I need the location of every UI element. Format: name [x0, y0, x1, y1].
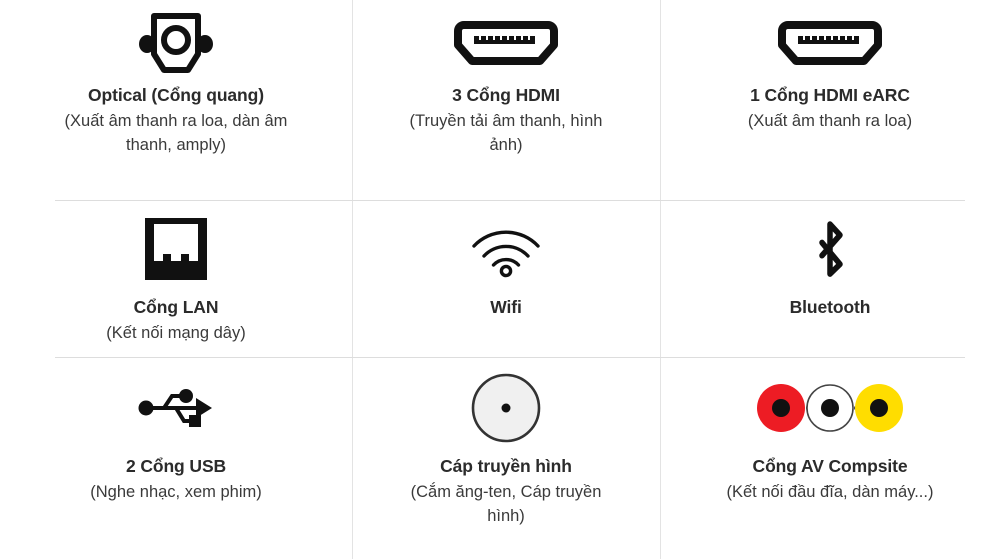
- feature-subtitle: (Cắm ăng-ten, Cáp truyền hình): [401, 481, 611, 529]
- feature-title: Optical (Cổng quang): [88, 84, 264, 108]
- feature-cell-av-composite: Cổng AV Compsite (Kết nối đầu đĩa, dàn m…: [660, 357, 1000, 559]
- feature-title: Bluetooth: [790, 296, 871, 320]
- hdmi-port-icon: [454, 8, 558, 80]
- feature-cell-wifi: Wifi: [352, 200, 660, 357]
- feature-title: Cổng LAN: [134, 296, 219, 320]
- feature-title: Wifi: [490, 296, 522, 320]
- feature-subtitle: (Xuất âm thanh ra loa): [748, 110, 912, 134]
- coaxial-cable-icon: [470, 373, 542, 443]
- lan-rj45-icon: [145, 214, 207, 284]
- av-composite-rca-icon: [754, 373, 906, 443]
- feature-subtitle: (Xuất âm thanh ra loa, dàn âm thanh, amp…: [51, 110, 301, 158]
- hdmi-earc-port-icon: [778, 8, 882, 80]
- wifi-icon: [468, 214, 544, 284]
- feature-subtitle: (Nghe nhạc, xem phim): [90, 481, 262, 505]
- feature-subtitle: (Kết nối mạng dây): [106, 322, 245, 346]
- feature-cell-usb: 2 Cổng USB (Nghe nhạc, xem phim): [0, 357, 352, 559]
- feature-cell-lan: Cổng LAN (Kết nối mạng dây): [0, 200, 352, 357]
- feature-title: 2 Cổng USB: [126, 455, 226, 479]
- feature-title: Cáp truyền hình: [440, 455, 572, 479]
- feature-title: 3 Cổng HDMI: [452, 84, 560, 108]
- connectivity-feature-grid: Optical (Cổng quang) (Xuất âm thanh ra l…: [0, 0, 1000, 559]
- usb-icon: [136, 373, 216, 443]
- feature-title: Cổng AV Compsite: [753, 455, 908, 479]
- feature-cell-hdmi-earc: 1 Cổng HDMI eARC (Xuất âm thanh ra loa): [660, 0, 1000, 200]
- feature-cell-optical: Optical (Cổng quang) (Xuất âm thanh ra l…: [0, 0, 352, 200]
- bluetooth-icon: [807, 214, 853, 284]
- feature-cell-hdmi: 3 Cổng HDMI (Truyền tải âm thanh, hình ả…: [352, 0, 660, 200]
- feature-cell-coaxial-cable: Cáp truyền hình (Cắm ăng-ten, Cáp truyền…: [352, 357, 660, 559]
- feature-subtitle: (Kết nối đầu đĩa, dàn máy...): [727, 481, 934, 505]
- feature-subtitle: (Truyền tải âm thanh, hình ảnh): [391, 110, 621, 158]
- optical-toslink-icon: [138, 8, 214, 80]
- feature-cell-bluetooth: Bluetooth: [660, 200, 1000, 357]
- feature-title: 1 Cổng HDMI eARC: [750, 84, 910, 108]
